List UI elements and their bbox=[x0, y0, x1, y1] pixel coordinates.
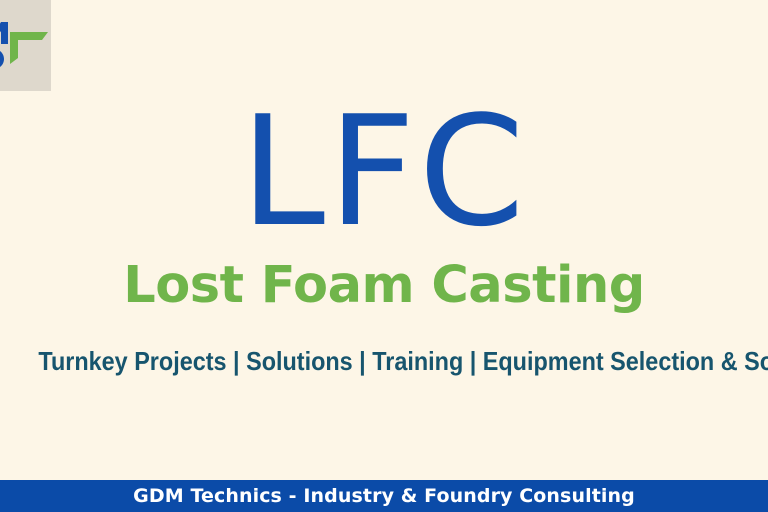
logo-badge[interactable] bbox=[0, 0, 51, 91]
gdm-logo-mark bbox=[0, 20, 50, 72]
services-tagline: Turnkey Projects | Solutions | Training … bbox=[38, 346, 729, 377]
footer-banner-text: GDM Technics - Industry & Foundry Consul… bbox=[133, 487, 635, 506]
page-subtitle-expansion: Lost Foam Casting bbox=[0, 257, 768, 316]
slide-canvas: LFC Lost Foam Casting Turnkey Projects |… bbox=[0, 0, 768, 512]
footer-banner: GDM Technics - Industry & Foundry Consul… bbox=[0, 480, 768, 512]
page-title-acronym: LFC bbox=[0, 96, 768, 248]
